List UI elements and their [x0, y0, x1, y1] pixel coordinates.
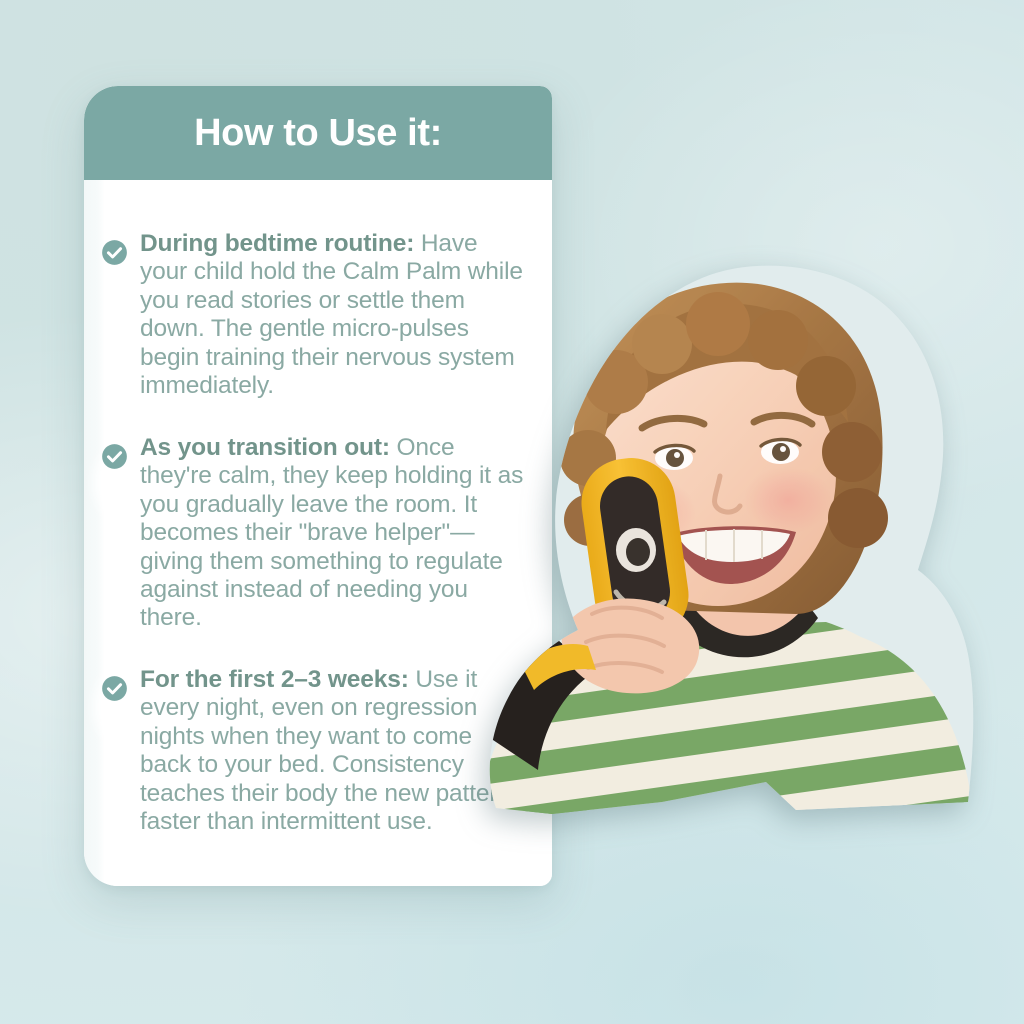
card-header: How to Use it: — [84, 86, 552, 180]
photo-content — [466, 262, 994, 824]
list-item-label: As you transition out: — [140, 434, 390, 461]
page-title: How to Use it: — [194, 112, 442, 155]
check-circle-icon — [101, 443, 128, 470]
list-item-label: During bedtime routine: — [140, 230, 414, 257]
check-circle-icon — [101, 239, 128, 266]
check-circle-icon — [101, 675, 128, 702]
child-photo — [466, 262, 994, 824]
list-item-label: For the first 2–3 weeks: — [140, 666, 409, 693]
